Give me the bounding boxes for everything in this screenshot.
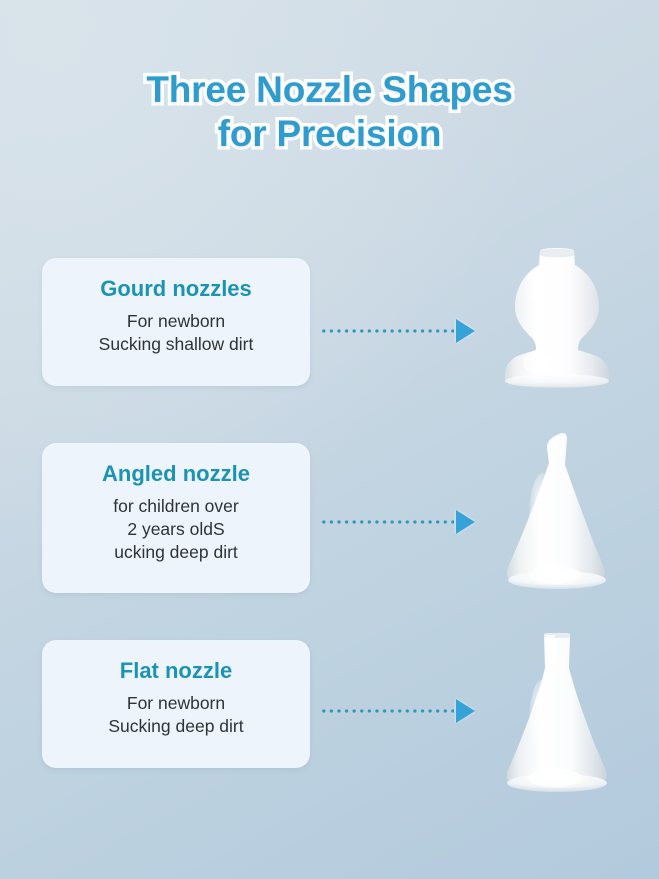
- card-heading-flat: Flat nozzle: [52, 658, 300, 683]
- arrowhead-icon: [456, 699, 475, 723]
- infographic-poster: Three Nozzle Shapes for Precision Gourd …: [0, 0, 659, 879]
- nozzle-card-gourd: Gourd nozzles For newborn Sucking shallo…: [42, 258, 310, 386]
- flat-nozzle-icon: [477, 622, 637, 794]
- card-heading-angled: Angled nozzle: [52, 461, 300, 486]
- card-body-flat: For newborn Sucking deep dirt: [52, 692, 300, 738]
- arrowhead-icon: [456, 319, 475, 343]
- angled-nozzle-icon: [477, 425, 637, 593]
- page-title: Three Nozzle Shapes for Precision: [0, 68, 659, 155]
- title-line-2: for Precision: [0, 112, 659, 156]
- nozzle-card-angled: Angled nozzle for children over 2 years …: [42, 443, 310, 593]
- dotted-line: [320, 329, 454, 333]
- card-body-gourd: For newborn Sucking shallow dirt: [52, 310, 300, 356]
- card-heading-gourd: Gourd nozzles: [52, 276, 300, 301]
- dotted-arrow-right-icon-angled: [320, 509, 475, 535]
- dotted-arrow-right-icon-flat: [320, 698, 475, 724]
- arrowhead-icon: [456, 510, 475, 534]
- dotted-arrow-right-icon-gourd: [320, 318, 475, 344]
- dotted-line: [320, 520, 454, 524]
- gourd-nozzle-icon: [477, 243, 637, 391]
- dotted-line: [320, 709, 454, 713]
- card-body-angled: for children over 2 years oldS ucking de…: [52, 495, 300, 564]
- title-line-1: Three Nozzle Shapes: [0, 68, 659, 112]
- nozzle-card-flat: Flat nozzle For newborn Sucking deep dir…: [42, 640, 310, 768]
